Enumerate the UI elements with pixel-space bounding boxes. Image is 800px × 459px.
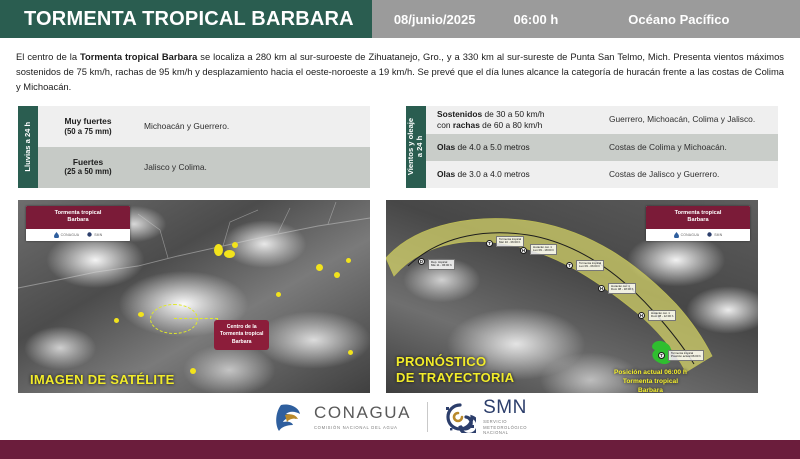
satellite-caption: IMAGEN DE SATÉLITE <box>30 372 175 388</box>
convection-blob <box>334 272 340 278</box>
smn-mini-logo: SMN <box>707 232 722 237</box>
track-point-marker: H <box>520 247 527 254</box>
conagua-mini-text: CONAGUA <box>681 233 700 237</box>
footer-divider <box>427 402 428 432</box>
rain-level-0: Muy fuertes <box>64 116 111 126</box>
rain-areas-0: Michoacán y Guerrero. <box>136 106 370 147</box>
footer-accent-bar <box>0 440 800 459</box>
current-position-marker: T <box>658 352 665 359</box>
satellite-panel[interactable]: Centro de la Tormenta tropical Barbara T… <box>18 200 370 400</box>
satellite-card-title-line1: Tormenta tropical <box>28 210 128 218</box>
forecast-card-title-line1: Tormenta tropical <box>648 210 748 218</box>
wind-side-label-line1: Vientos y oleaje <box>407 118 416 175</box>
track-point-label: Huracán cat. 1 Dom 08 - 12:00 h <box>648 310 676 321</box>
wind-key-1-b1: Olas <box>437 142 455 152</box>
storm-center-callout: Centro de la Tormenta tropical Barbara <box>214 320 269 351</box>
image-panels: Centro de la Tormenta tropical Barbara T… <box>0 200 800 400</box>
rain-table-side-label: Lluvias a 24 h <box>18 106 38 188</box>
rain-level-cell: Fuertes (25 a 50 mm) <box>38 147 136 188</box>
smn-subtitle: SERVICIO METEOROLÓGICO NACIONAL <box>483 419 527 437</box>
conagua-mini-text: CONAGUA <box>61 233 80 237</box>
convection-blob <box>316 264 323 271</box>
wind-table: Sostenidos de 30 a 50 km/h con rachas de… <box>426 106 778 188</box>
wind-areas-0: Guerrero, Michoacán, Colima y Jalisco. <box>601 106 778 134</box>
convection-blob <box>190 368 196 374</box>
spiral-icon <box>87 232 92 237</box>
table-row: Fuertes (25 a 50 mm) Jalisco y Colima. <box>38 147 370 188</box>
callout-line2: Tormenta tropical <box>220 331 263 339</box>
wind-table-block: Vientos y oleaje a 24 h Sostenidos de 30… <box>406 106 778 188</box>
smn-mini-text: SMN <box>714 233 722 237</box>
rain-level-1: Fuertes <box>73 157 103 167</box>
table-row: Olas de 3.0 a 4.0 metros Costas de Jalis… <box>426 161 778 188</box>
wind-key-0-b2: rachas <box>453 120 480 130</box>
smn-name: SMN <box>483 397 527 419</box>
header-basin: Océano Pacífico <box>628 12 729 27</box>
wind-key-1-t1: de 4.0 a 5.0 metros <box>455 142 530 152</box>
wind-key-1: Olas de 4.0 a 5.0 metros <box>426 134 601 161</box>
rain-level-cell: Muy fuertes (50 a 75 mm) <box>38 106 136 147</box>
forecast-caption-line2: DE TRAYECTORIA <box>396 370 514 386</box>
wind-table-side-label: Vientos y oleaje a 24 h <box>406 106 426 188</box>
wind-key-0-t1: de 30 a 50 km/h <box>482 109 544 119</box>
wind-side-label-line2: a 24 h <box>416 118 425 175</box>
track-point-marker: H <box>638 312 645 319</box>
page-footer: CONAGUA COMISIÓN NACIONAL DEL AGUA SMN S… <box>0 393 800 440</box>
wind-side-label-text: Vientos y oleaje a 24 h <box>407 118 426 175</box>
conagua-subtitle: COMISIÓN NACIONAL DEL AGUA <box>314 425 411 430</box>
track-point-label: Huracán cat. 1 Dom 08 - 18:00 h <box>608 283 636 294</box>
summary-storm-name: Tormenta tropical Barbara <box>80 51 197 62</box>
satellite-card-logos: CONAGUA SMN <box>26 229 130 241</box>
current-label-line2: Posición actual 06:00 h <box>671 355 701 359</box>
wind-key-2-t1: de 3.0 a 4.0 metros <box>455 169 530 179</box>
forecast-card-logos: CONAGUA SMN <box>646 229 750 241</box>
wind-key-0-b1: Sostenidos <box>437 109 482 119</box>
table-row: Muy fuertes (50 a 75 mm) Michoacán y Gue… <box>38 106 370 147</box>
wind-areas-1: Costas de Colima y Michoacán. <box>601 134 778 161</box>
forecast-track-panel[interactable]: D Dep. tropical Mié 11 - 06:00 h T Torme… <box>386 200 758 400</box>
callout-line1: Centro de la <box>220 324 263 332</box>
rain-table-block: Lluvias a 24 h Muy fuertes (50 a 75 mm) … <box>18 106 370 188</box>
table-row: Olas de 4.0 a 5.0 metros Costas de Colim… <box>426 134 778 161</box>
header-date: 08/junio/2025 <box>394 12 476 27</box>
summary-part1: El centro de la <box>16 51 80 62</box>
smn-mini-logo: SMN <box>87 232 102 237</box>
track-point-label: Tormenta tropical Lun 09 - 06:00 h <box>576 260 604 271</box>
track-label-line2: Dom 08 - 12:00 h <box>651 315 673 319</box>
page-header: TORMENTA TROPICAL BARBARA 08/junio/2025 … <box>0 0 800 38</box>
water-drop-icon <box>54 232 59 238</box>
convection-blob <box>346 258 351 263</box>
track-point-marker: H <box>598 285 605 292</box>
track-label-line2: Lun 09 - 06:00 h <box>579 265 601 269</box>
wind-key-0-t2b: de 60 a 80 km/h <box>480 120 542 130</box>
conagua-mini-logo: CONAGUA <box>674 232 700 238</box>
convection-blob <box>232 242 238 248</box>
satellite-card-title-line2: Barbara <box>28 217 128 225</box>
callout-line3: Barbara <box>220 339 263 347</box>
convection-blob <box>138 312 144 317</box>
cur-pos-line2: Tormenta tropical <box>614 377 687 386</box>
forecast-caption: PRONÓSTICO DE TRAYECTORIA <box>396 354 514 385</box>
track-label-line2: Dom 08 - 18:00 h <box>611 288 633 292</box>
rain-side-label-text: Lluvias a 24 h <box>23 122 32 172</box>
rain-areas-1: Jalisco y Colima. <box>136 147 370 188</box>
track-point-marker: D <box>418 258 425 265</box>
smn-mini-text: SMN <box>94 233 102 237</box>
track-label-line2: Mié 11 - 06:00 h <box>431 264 452 268</box>
forecast-card-title: Tormenta tropical Barbara <box>646 206 750 229</box>
summary-paragraph: El centro de la Tormenta tropical Barbar… <box>16 49 784 95</box>
conagua-eagle-icon <box>273 401 307 433</box>
wind-key-2: Olas de 3.0 a 4.0 metros <box>426 161 601 188</box>
track-point-label: Huracán cat. 1 Lun 09 - 18:00 h <box>530 244 557 255</box>
smn-text-block: SMN SERVICIO METEOROLÓGICO NACIONAL <box>483 397 527 437</box>
convection-blob <box>224 250 235 258</box>
conagua-mini-logo: CONAGUA <box>54 232 80 238</box>
track-point-label: Dep. tropical Mié 11 - 06:00 h <box>428 259 455 270</box>
water-drop-icon <box>674 232 679 238</box>
header-time: 06:00 h <box>513 12 558 27</box>
satellite-branding-card: Tormenta tropical Barbara CONAGUA SMN <box>26 206 130 241</box>
wind-areas-2: Costas de Jalisco y Guerrero. <box>601 161 778 188</box>
forecast-tables: Lluvias a 24 h Muy fuertes (50 a 75 mm) … <box>0 106 800 188</box>
wind-key-0: Sostenidos de 30 a 50 km/h con rachas de… <box>426 106 601 134</box>
satellite-card-title: Tormenta tropical Barbara <box>26 206 130 229</box>
track-point-label: Tormenta tropical Mar 10 - 06:00 h <box>496 236 524 247</box>
wind-key-0-t2a: con <box>437 120 453 130</box>
rain-table: Muy fuertes (50 a 75 mm) Michoacán y Gue… <box>38 106 370 188</box>
convection-blob <box>276 292 281 297</box>
track-point-marker: T <box>566 262 573 269</box>
current-position-text: Posición actual 06:00 h Tormenta tropica… <box>614 368 687 396</box>
wind-key-2-b1: Olas <box>437 169 455 179</box>
cur-pos-line1: Posición actual 06:00 h <box>614 368 687 377</box>
header-meta: 08/junio/2025 06:00 h Océano Pacífico <box>372 0 800 38</box>
conagua-logo-group: CONAGUA COMISIÓN NACIONAL DEL AGUA <box>273 401 411 433</box>
convection-blob <box>214 244 223 256</box>
rain-range-0: (50 a 75 mm) <box>49 127 127 137</box>
table-row: Sostenidos de 30 a 50 km/h con rachas de… <box>426 106 778 134</box>
spiral-icon <box>707 232 712 237</box>
convection-blob <box>114 318 119 323</box>
rain-range-1: (25 a 50 mm) <box>49 167 127 177</box>
smn-spiral-icon <box>444 401 476 433</box>
track-point-marker: T <box>486 240 493 247</box>
forecast-caption-line1: PRONÓSTICO <box>396 354 514 370</box>
convection-blob <box>348 350 353 355</box>
forecast-branding-card: Tormenta tropical Barbara CONAGUA SMN <box>646 206 750 241</box>
smn-logo-group: SMN SERVICIO METEOROLÓGICO NACIONAL <box>444 397 527 437</box>
conagua-text-block: CONAGUA COMISIÓN NACIONAL DEL AGUA <box>314 403 411 430</box>
callout-leader-line <box>174 318 218 336</box>
track-label-line2: Lun 09 - 18:00 h <box>533 249 554 253</box>
page-title: TORMENTA TROPICAL BARBARA <box>0 0 372 38</box>
forecast-card-title-line2: Barbara <box>648 217 748 225</box>
conagua-name: CONAGUA <box>314 403 411 423</box>
current-position-label: Tormenta tropical Posición actual 06:00 … <box>668 350 704 361</box>
track-label-line2: Mar 10 - 06:00 h <box>499 241 521 245</box>
smn-sub-line3: NACIONAL <box>483 430 527 436</box>
